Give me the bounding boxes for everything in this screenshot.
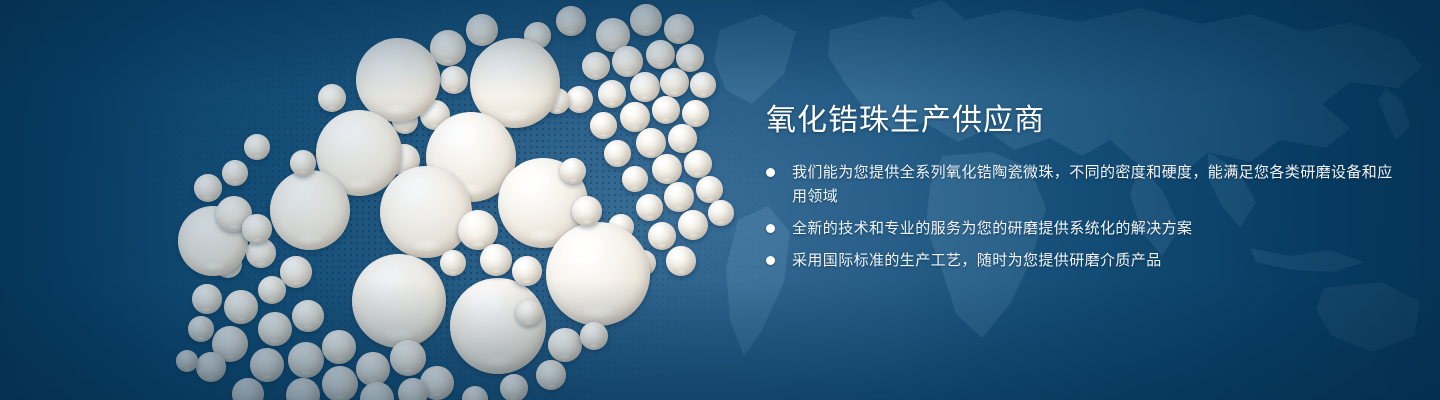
feature-text: 全新的技术和专业的服务为您的研磨提供系统化的解决方案 — [792, 217, 1192, 241]
bullet-circle-icon — [766, 168, 775, 177]
bullet-circle-icon — [766, 224, 775, 233]
feature-list-item: 采用国际标准的生产工艺，随时为您提供研磨介质产品 — [762, 249, 1402, 273]
bullet-circle-icon — [766, 256, 775, 265]
feature-list-item: 全新的技术和专业的服务为您的研磨提供系统化的解决方案 — [762, 217, 1402, 241]
feature-list: 我们能为您提供全系列氧化锆陶瓷微珠，不同的密度和硬度，能满足您各类研磨设备和应用… — [762, 161, 1402, 273]
feature-text: 我们能为您提供全系列氧化锆陶瓷微珠，不同的密度和硬度，能满足您各类研磨设备和应用… — [792, 161, 1402, 209]
hero-banner: 氧化锆珠生产供应商 我们能为您提供全系列氧化锆陶瓷微珠，不同的密度和硬度，能满足… — [0, 0, 1440, 400]
feature-text: 采用国际标准的生产工艺，随时为您提供研磨介质产品 — [792, 249, 1162, 273]
feature-list-item: 我们能为您提供全系列氧化锆陶瓷微珠，不同的密度和硬度，能满足您各类研磨设备和应用… — [762, 161, 1402, 209]
banner-headline: 氧化锆珠生产供应商 — [766, 104, 1402, 139]
banner-copy: 氧化锆珠生产供应商 我们能为您提供全系列氧化锆陶瓷微珠，不同的密度和硬度，能满足… — [762, 104, 1402, 281]
